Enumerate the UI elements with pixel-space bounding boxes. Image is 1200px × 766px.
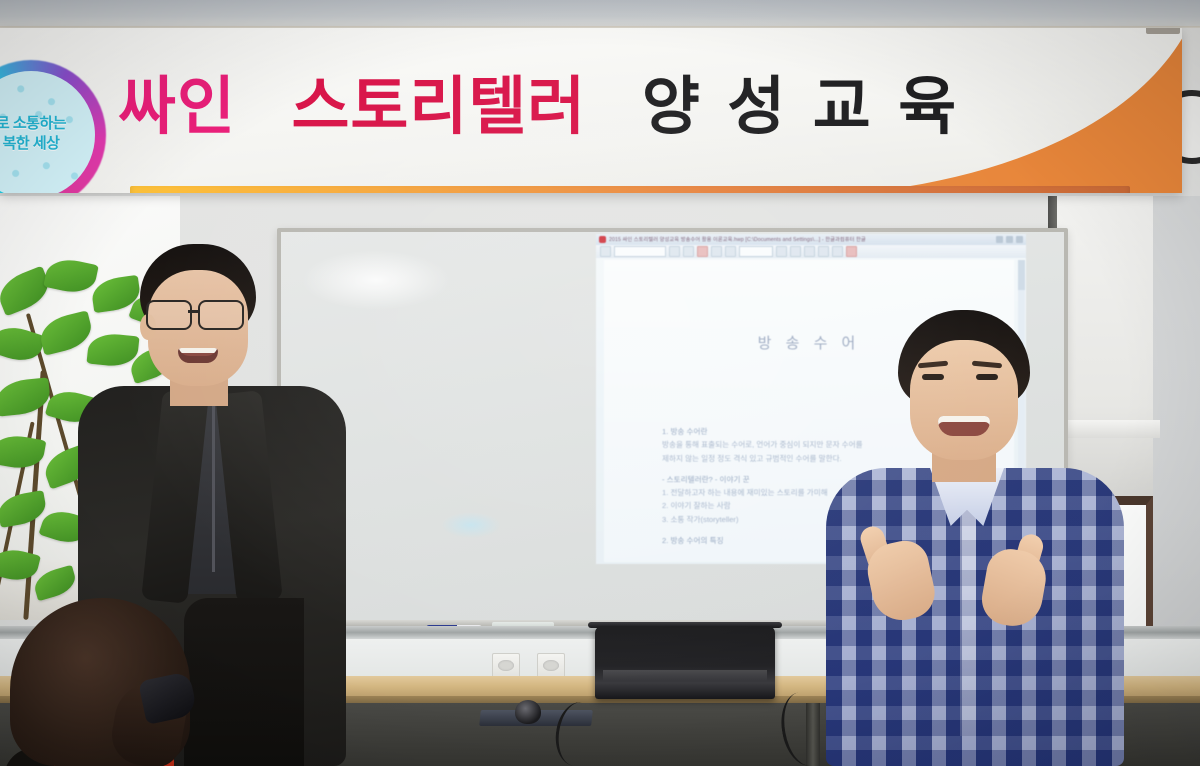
banner-mount-bracket xyxy=(1146,28,1180,34)
window-controls xyxy=(996,236,1023,243)
scrollbar-thumb[interactable] xyxy=(1018,260,1025,290)
logo-text: 로 소통하는 복한 세상 xyxy=(0,113,106,153)
app-logo-icon xyxy=(599,236,606,243)
glasses-lens-right xyxy=(198,300,244,330)
align-icon[interactable] xyxy=(818,246,829,257)
logo-text-line-2: 복한 세상 xyxy=(0,134,106,154)
projected-toolbar xyxy=(596,245,1026,258)
redo-icon[interactable] xyxy=(725,246,736,257)
webcam xyxy=(515,700,541,724)
projected-window-title: 2015 싸인 스토리텔러 양성교육 방송수어 활용 이론교육.hwp [C:\… xyxy=(609,236,866,243)
underline-icon[interactable] xyxy=(804,246,815,257)
subbar-item-period: 기간 :2015년 연4회 xyxy=(144,191,282,193)
face xyxy=(910,340,1018,460)
shirt-zipper xyxy=(212,402,215,572)
print-icon[interactable] xyxy=(697,246,708,257)
table-icon[interactable] xyxy=(832,246,843,257)
audience-member xyxy=(4,598,219,766)
logo-text-line-1: 로 소통하는 xyxy=(0,113,106,133)
whiteboard-glare-spot xyxy=(441,512,501,538)
eye-left xyxy=(922,374,944,380)
subbar-item-venue: 장소 :경기도농아인협회 교육장 xyxy=(617,191,831,193)
banner-subtitle-bar: 기간 :2015년 연4회 내용 :방송수어 활용 이론교육 – 실습교육 장소… xyxy=(130,186,1130,193)
classroom-photo: 2015 싸인 스토리텔러 양성교육 방송수어 활용 이론교육.hwp [C:\… xyxy=(0,0,1200,766)
font-select[interactable] xyxy=(739,246,773,257)
banner-title-part-2: 스토리텔러 xyxy=(291,72,586,142)
subbar-item-instructor: 강사 :양 흥 석(평택 등대농문화센터) xyxy=(857,191,1056,193)
smiling-mouth xyxy=(938,416,990,436)
event-banner: 로 소통하는 복한 세상 싸인 스토리텔러 양 성 교 육 기간 :2015년 … xyxy=(0,28,1182,193)
minimize-icon[interactable] xyxy=(996,236,1003,243)
maximize-icon[interactable] xyxy=(1006,236,1013,243)
bold-icon[interactable] xyxy=(776,246,787,257)
projected-window-titlebar: 2015 싸인 스토리텔러 양성교육 방송수어 활용 이론교육.hwp [C:\… xyxy=(596,234,1026,245)
save-icon[interactable] xyxy=(683,246,694,257)
organization-logo: 로 소통하는 복한 세상 xyxy=(0,60,106,193)
color-icon[interactable] xyxy=(846,246,857,257)
presenter-right xyxy=(826,310,1126,766)
new-doc-icon[interactable] xyxy=(600,246,611,257)
adjacent-dark-figure xyxy=(184,598,304,766)
subbar-item-content: 내용 :방송수어 활용 이론교육 – 실습교육 xyxy=(308,191,591,193)
laptop-lid-sheen xyxy=(603,670,767,681)
style-select[interactable] xyxy=(614,246,666,257)
eye-right xyxy=(976,374,998,380)
close-icon[interactable] xyxy=(1016,236,1023,243)
banner-title-part-3: 양 성 교 육 xyxy=(642,72,961,142)
open-icon[interactable] xyxy=(669,246,680,257)
shirt-placket xyxy=(960,506,976,736)
smiling-mouth xyxy=(178,348,218,363)
italic-icon[interactable] xyxy=(790,246,801,257)
undo-icon[interactable] xyxy=(711,246,722,257)
banner-title-part-1: 싸인 xyxy=(118,72,236,142)
glasses-lens-left xyxy=(146,300,192,330)
banner-title: 싸인 스토리텔러 양 성 교 육 xyxy=(118,76,961,139)
laptop[interactable] xyxy=(595,626,775,699)
glasses-icon xyxy=(144,300,252,326)
